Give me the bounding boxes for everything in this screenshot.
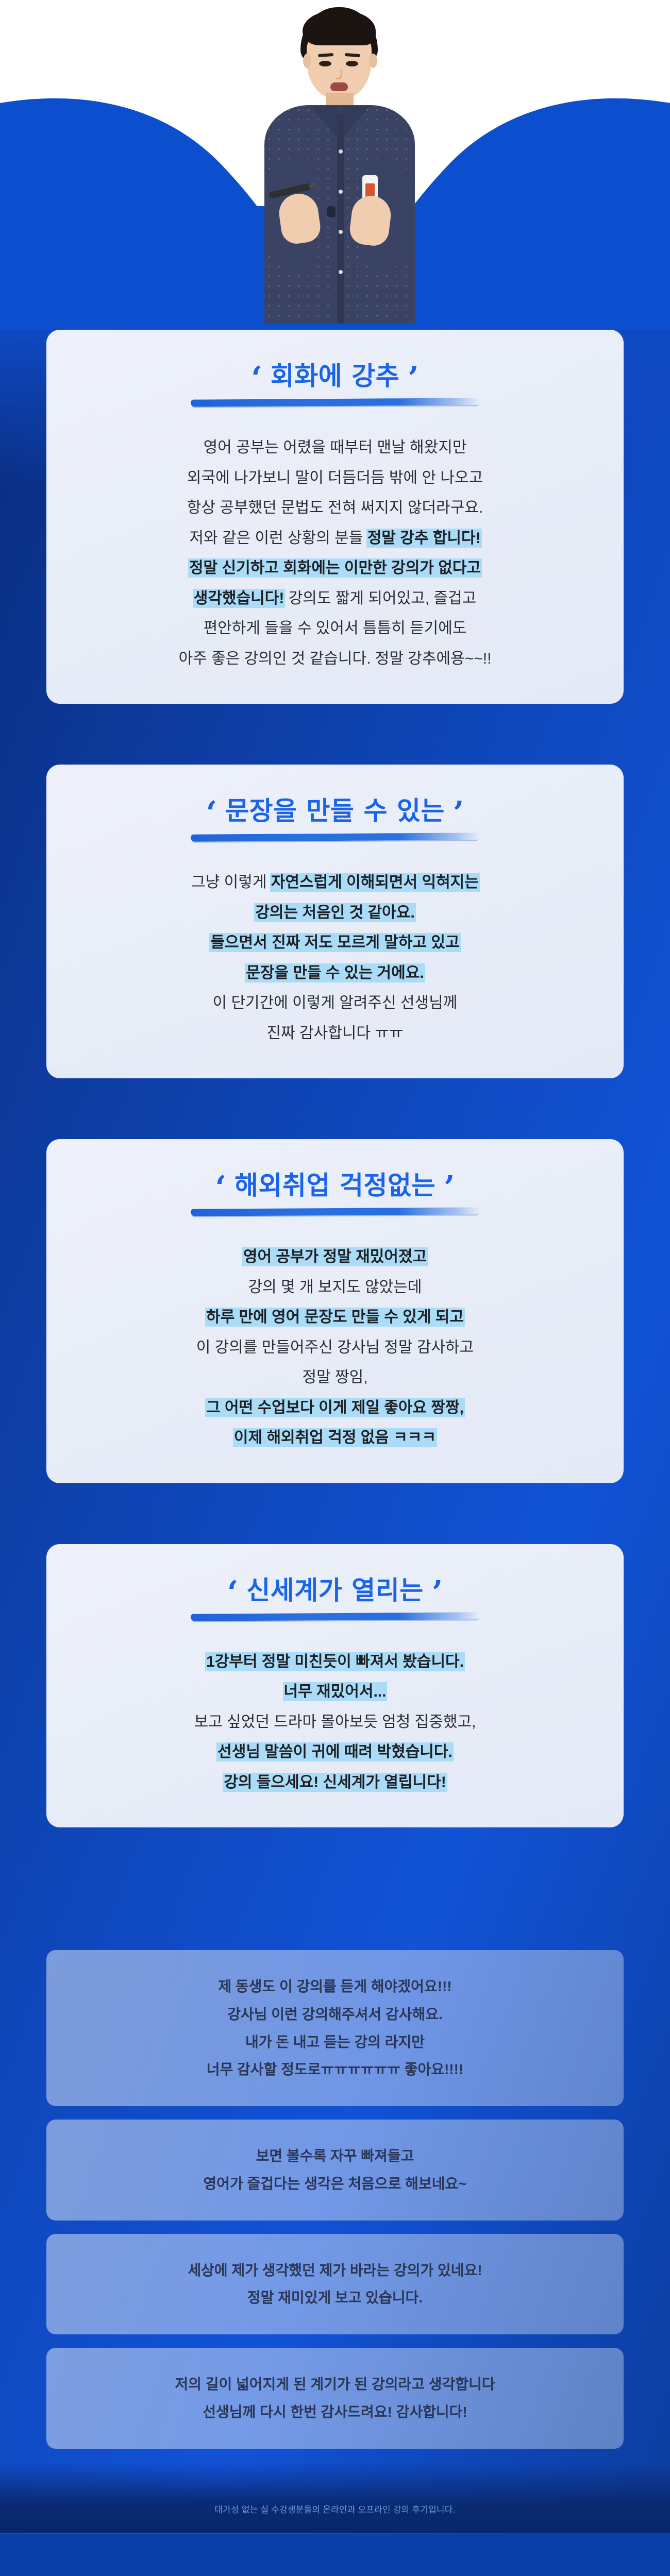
testimonial-title-row: ‘신세계가 열리는’ bbox=[77, 1576, 593, 1605]
instructor-mouth bbox=[330, 82, 348, 91]
instructor-fringe bbox=[303, 11, 376, 45]
highlighted-text: 하루 만에 영어 문장도 만들 수 있게 되고 bbox=[206, 1309, 464, 1326]
review-line: 내가 돈 내고 듣는 강의 라지만 bbox=[72, 2028, 598, 2056]
instructor-eye-right bbox=[346, 61, 358, 66]
review-line: 강사님 이런 강의해주셔서 감사해요. bbox=[72, 2001, 598, 2028]
gray-card-list: 제 동생도 이 강의를 듣게 해야겠어요!!!강사님 이런 강의해주셔서 감사해… bbox=[0, 1950, 670, 2449]
plain-text: 강의도 짧게 되어있고, 즐겁고 bbox=[284, 590, 476, 607]
brush-underline bbox=[191, 398, 479, 406]
testimonial-title: 해외취업 걱정없는 bbox=[234, 1171, 435, 1200]
testimonial-card: ‘문장을 만들 수 있는’그냥 이렇게 자연스럽게 이해되면서 익혀지는강의는 … bbox=[46, 765, 624, 1078]
testimonial-line: 정말 신기하고 회화에는 이만한 강의가 없다고 bbox=[77, 553, 593, 584]
testimonial-title-row: ‘문장을 만들 수 있는’ bbox=[77, 796, 593, 825]
plain-text: 정말 짱임, bbox=[302, 1369, 367, 1386]
testimonial-line: 너무 재밌어서... bbox=[77, 1677, 593, 1707]
testimonial-title: 문장을 만들 수 있는 bbox=[225, 796, 445, 825]
testimonial-line: 그냥 이렇게 자연스럽게 이해되면서 익혀지는 bbox=[77, 868, 593, 898]
instructor-shirt-placket bbox=[337, 114, 344, 324]
review-line: 정말 재미있게 보고 있습니다. bbox=[72, 2284, 598, 2312]
quote-open-icon: ‘ bbox=[251, 364, 262, 393]
highlighted-text: 짱짱, bbox=[427, 1399, 464, 1416]
instructor-photo bbox=[224, 4, 446, 323]
highlighted-text: 강의 들으세요! 신세계가 열립니다! bbox=[224, 1774, 446, 1791]
testimonial-line: 이제 해외취업 걱정 없음 ㅋㅋㅋ bbox=[77, 1423, 593, 1453]
brush-underline bbox=[191, 1207, 479, 1216]
review-card: 저의 길이 넓어지게 된 계기가 된 강의라고 생각합니다선생님께 다시 한번 … bbox=[46, 2348, 624, 2449]
footer-disclaimer: 대가성 없는 실 수강생분들의 온라인과 오프라인 강의 후기입니다. bbox=[0, 2502, 670, 2515]
testimonial-title-row: ‘회화에 강추’ bbox=[77, 362, 593, 391]
plain-text: 저와 같은 이런 상황의 분들 bbox=[189, 530, 367, 547]
quote-close-icon: ’ bbox=[408, 364, 419, 393]
review-line: 너무 감사할 정도로ㅠㅠㅠㅠㅠㅠ 좋아요!!!! bbox=[72, 2056, 598, 2083]
testimonial-body: 그냥 이렇게 자연스럽게 이해되면서 익혀지는강의는 처음인 것 같아요.들으면… bbox=[77, 868, 593, 1048]
testimonial-line: 보고 싶었던 드라마 몰아보듯 엄청 집중했고, bbox=[77, 1707, 593, 1738]
page-footer: 대가성 없는 실 수강생분들의 온라인과 오프라인 강의 후기입니다. bbox=[0, 2462, 670, 2533]
testimonial-line: 외국에 나가보니 말이 더듬더듬 밖에 안 나오고 bbox=[77, 463, 593, 494]
instructor-lapel-mic bbox=[327, 206, 336, 217]
instructor-shirt-button bbox=[339, 230, 343, 234]
highlighted-text: 정말 강추 합니다! bbox=[367, 530, 481, 547]
highlighted-text: 1강부터 정말 미친듯이 빠져서 봤습니다. bbox=[206, 1653, 464, 1670]
highlighted-text: 자연스럽게 이해되면서 익혀지는 bbox=[271, 874, 479, 891]
testimonial-card: ‘해외취업 걱정없는’영어 공부가 정말 재밌어졌고강의 몇 개 보지도 않았는… bbox=[46, 1139, 624, 1483]
highlighted-text: 정말 신기하고 회화에는 이만한 강의가 없다고 bbox=[189, 560, 481, 577]
light-card-list: ‘회화에 강추’영어 공부는 어렸을 때부터 맨날 해왔지만외국에 나가보니 말… bbox=[0, 330, 670, 1827]
testimonial-line: 이 강의를 만들어주신 강사님 정말 감사하고 bbox=[77, 1333, 593, 1363]
highlighted-text: 이제 해외취업 걱정 없음 bbox=[234, 1429, 389, 1446]
testimonial-body: 영어 공부는 어렸을 때부터 맨날 해왔지만외국에 나가보니 말이 더듬더듬 밖… bbox=[77, 433, 593, 674]
review-card: 제 동생도 이 강의를 듣게 해야겠어요!!!강사님 이런 강의해주셔서 감사해… bbox=[46, 1950, 624, 2106]
instructor-ear-left bbox=[303, 54, 311, 68]
testimonial-line: 정말 짱임, bbox=[77, 1363, 593, 1393]
testimonial-line: 하루 만에 영어 문장도 만들 수 있게 되고 bbox=[77, 1302, 593, 1333]
testimonial-line: 강의 몇 개 보지도 않았는데 bbox=[77, 1273, 593, 1303]
plain-text: 강의 몇 개 보지도 않았는데 bbox=[248, 1279, 422, 1296]
highlighted-text: 영어 공부가 정말 재밌어졌고 bbox=[243, 1248, 427, 1265]
testimonial-line: 들으면서 진짜 저도 모르게 말하고 있고 bbox=[77, 928, 593, 958]
plain-text: 편안하게 들을 수 있어서 틈틈히 듣기에도 bbox=[204, 620, 467, 637]
testimonial-line: 영어 공부는 어렸을 때부터 맨날 해왔지만 bbox=[77, 433, 593, 463]
quote-open-icon: ‘ bbox=[215, 1173, 226, 1202]
testimonial-line: 선생님 말씀이 귀에 때려 박혔습니다. bbox=[77, 1737, 593, 1768]
section-spacer bbox=[0, 1888, 670, 1950]
plain-text: 항상 공부했던 문법도 전혀 써지지 않더라구요. bbox=[187, 499, 483, 516]
plain-text: 영어 공부는 어렸을 때부터 맨날 해왔지만 bbox=[204, 439, 467, 456]
instructor-eye-left bbox=[319, 61, 331, 66]
plain-text: 외국에 나가보니 말이 더듬더듬 밖에 안 나오고 bbox=[187, 469, 483, 486]
review-line: 저의 길이 넓어지게 된 계기가 된 강의라고 생각합니다 bbox=[72, 2370, 598, 2398]
plain-text: 아주 좋은 강의인 것 같습니다. 정말 강추에용~~!! bbox=[179, 650, 492, 667]
highlighted-text: 문장을 만들 수 있는 거에요. bbox=[246, 964, 424, 981]
testimonial-card: ‘신세계가 열리는’1강부터 정말 미친듯이 빠져서 봤습니다.너무 재밌어서.… bbox=[46, 1544, 624, 1828]
testimonial-line: 아주 좋은 강의인 것 같습니다. 정말 강추에용~~!! bbox=[77, 644, 593, 674]
quote-close-icon: ’ bbox=[432, 1578, 443, 1607]
instructor-shirt-button bbox=[339, 270, 343, 274]
testimonial-line: 그 어떤 수업보다 이게 제일 좋아요 짱짱, bbox=[77, 1393, 593, 1423]
testimonial-line: 진짜 감사합니다 ㅠㅠ bbox=[77, 1019, 593, 1049]
testimonial-landing-page: ‘회화에 강추’영어 공부는 어렸을 때부터 맨날 해왔지만외국에 나가보니 말… bbox=[0, 0, 670, 2534]
testimonial-line: 강의 들으세요! 신세계가 열립니다! bbox=[77, 1768, 593, 1798]
hero-section bbox=[0, 0, 670, 330]
quote-close-icon: ’ bbox=[453, 799, 464, 827]
review-line: 선생님께 다시 한번 감사드려요! 감사합니다! bbox=[72, 2398, 598, 2426]
testimonial-body: 1강부터 정말 미친듯이 빠져서 봤습니다.너무 재밌어서...보고 싶었던 드… bbox=[77, 1647, 593, 1798]
instructor-nose bbox=[336, 69, 342, 79]
testimonial-body: 영어 공부가 정말 재밌어졌고강의 몇 개 보지도 않았는데하루 만에 영어 문… bbox=[77, 1242, 593, 1453]
testimonial-line: 강의는 처음인 것 같아요. bbox=[77, 898, 593, 928]
highlighted-text: ㅋㅋㅋ bbox=[389, 1429, 436, 1446]
testimonial-line: 생각했습니다! 강의도 짧게 되어있고, 즐겁고 bbox=[77, 584, 593, 614]
highlighted-text: 선생님 말씀이 귀에 때려 박혔습니다. bbox=[217, 1743, 453, 1760]
brush-underline bbox=[191, 1612, 479, 1621]
testimonial-title-row: ‘해외취업 걱정없는’ bbox=[77, 1171, 593, 1200]
highlighted-text: 강의는 처음인 것 같아요. bbox=[255, 904, 414, 921]
review-line: 제 동생도 이 강의를 듣게 해야겠어요!!! bbox=[72, 1973, 598, 2001]
testimonial-title: 신세계가 열리는 bbox=[246, 1576, 423, 1605]
review-line: 세상에 제가 생각했던 제가 바라는 강의가 있네요! bbox=[72, 2257, 598, 2284]
instructor-shirt-button bbox=[339, 149, 343, 154]
testimonial-line: 1강부터 정말 미친듯이 빠져서 봤습니다. bbox=[77, 1647, 593, 1677]
testimonial-title: 회화에 강추 bbox=[271, 362, 399, 391]
testimonial-line: 문장을 만들 수 있는 거에요. bbox=[77, 958, 593, 989]
instructor-shirt-button bbox=[339, 190, 343, 194]
highlighted-text: 너무 재밌어서... bbox=[284, 1683, 387, 1700]
highlighted-text: 들으면서 진짜 저도 모르게 말하고 있고 bbox=[210, 934, 459, 951]
plain-text: 보고 싶었던 드라마 몰아보듯 엄청 집중했고, bbox=[194, 1714, 476, 1731]
review-line: 영어가 즐겁다는 생각은 처음으로 해보네요~ bbox=[72, 2170, 598, 2198]
plain-text: 진짜 감사합니다 ㅠㅠ bbox=[266, 1025, 403, 1042]
testimonial-line: 이 단기간에 이렇게 알려주신 선생님께 bbox=[77, 988, 593, 1019]
quote-open-icon: ‘ bbox=[227, 1578, 239, 1607]
quote-close-icon: ’ bbox=[444, 1173, 455, 1202]
plain-text: 이 단기간에 이렇게 알려주신 선생님께 bbox=[213, 994, 458, 1011]
testimonial-line: 영어 공부가 정말 재밌어졌고 bbox=[77, 1242, 593, 1273]
quote-open-icon: ‘ bbox=[206, 799, 217, 827]
review-card: 세상에 제가 생각했던 제가 바라는 강의가 있네요!정말 재미있게 보고 있습… bbox=[46, 2234, 624, 2335]
plain-text: 이 강의를 만들어주신 강사님 정말 감사하고 bbox=[196, 1339, 474, 1356]
review-line: 보면 볼수록 자꾸 빠져들고 bbox=[72, 2142, 598, 2170]
plain-text: 그냥 이렇게 bbox=[191, 874, 271, 891]
testimonial-line: 편안하게 들을 수 있어서 틈틈히 듣기에도 bbox=[77, 614, 593, 644]
instructor-ear-right bbox=[369, 54, 377, 68]
brush-underline bbox=[191, 833, 479, 841]
testimonial-line: 저와 같은 이런 상황의 분들 정말 강추 합니다! bbox=[77, 523, 593, 554]
testimonial-card: ‘회화에 강추’영어 공부는 어렸을 때부터 맨날 해왔지만외국에 나가보니 말… bbox=[46, 330, 624, 704]
review-card: 보면 볼수록 자꾸 빠져들고영어가 즐겁다는 생각은 처음으로 해보네요~ bbox=[46, 2120, 624, 2221]
testimonial-line: 항상 공부했던 문법도 전혀 써지지 않더라구요. bbox=[77, 493, 593, 523]
highlighted-text: 그 어떤 수업보다 이게 제일 좋아요 bbox=[206, 1399, 427, 1416]
testimonials-section: ‘회화에 강추’영어 공부는 어렸을 때부터 맨날 해왔지만외국에 나가보니 말… bbox=[0, 330, 670, 2534]
highlighted-text: 생각했습니다! bbox=[194, 590, 284, 607]
